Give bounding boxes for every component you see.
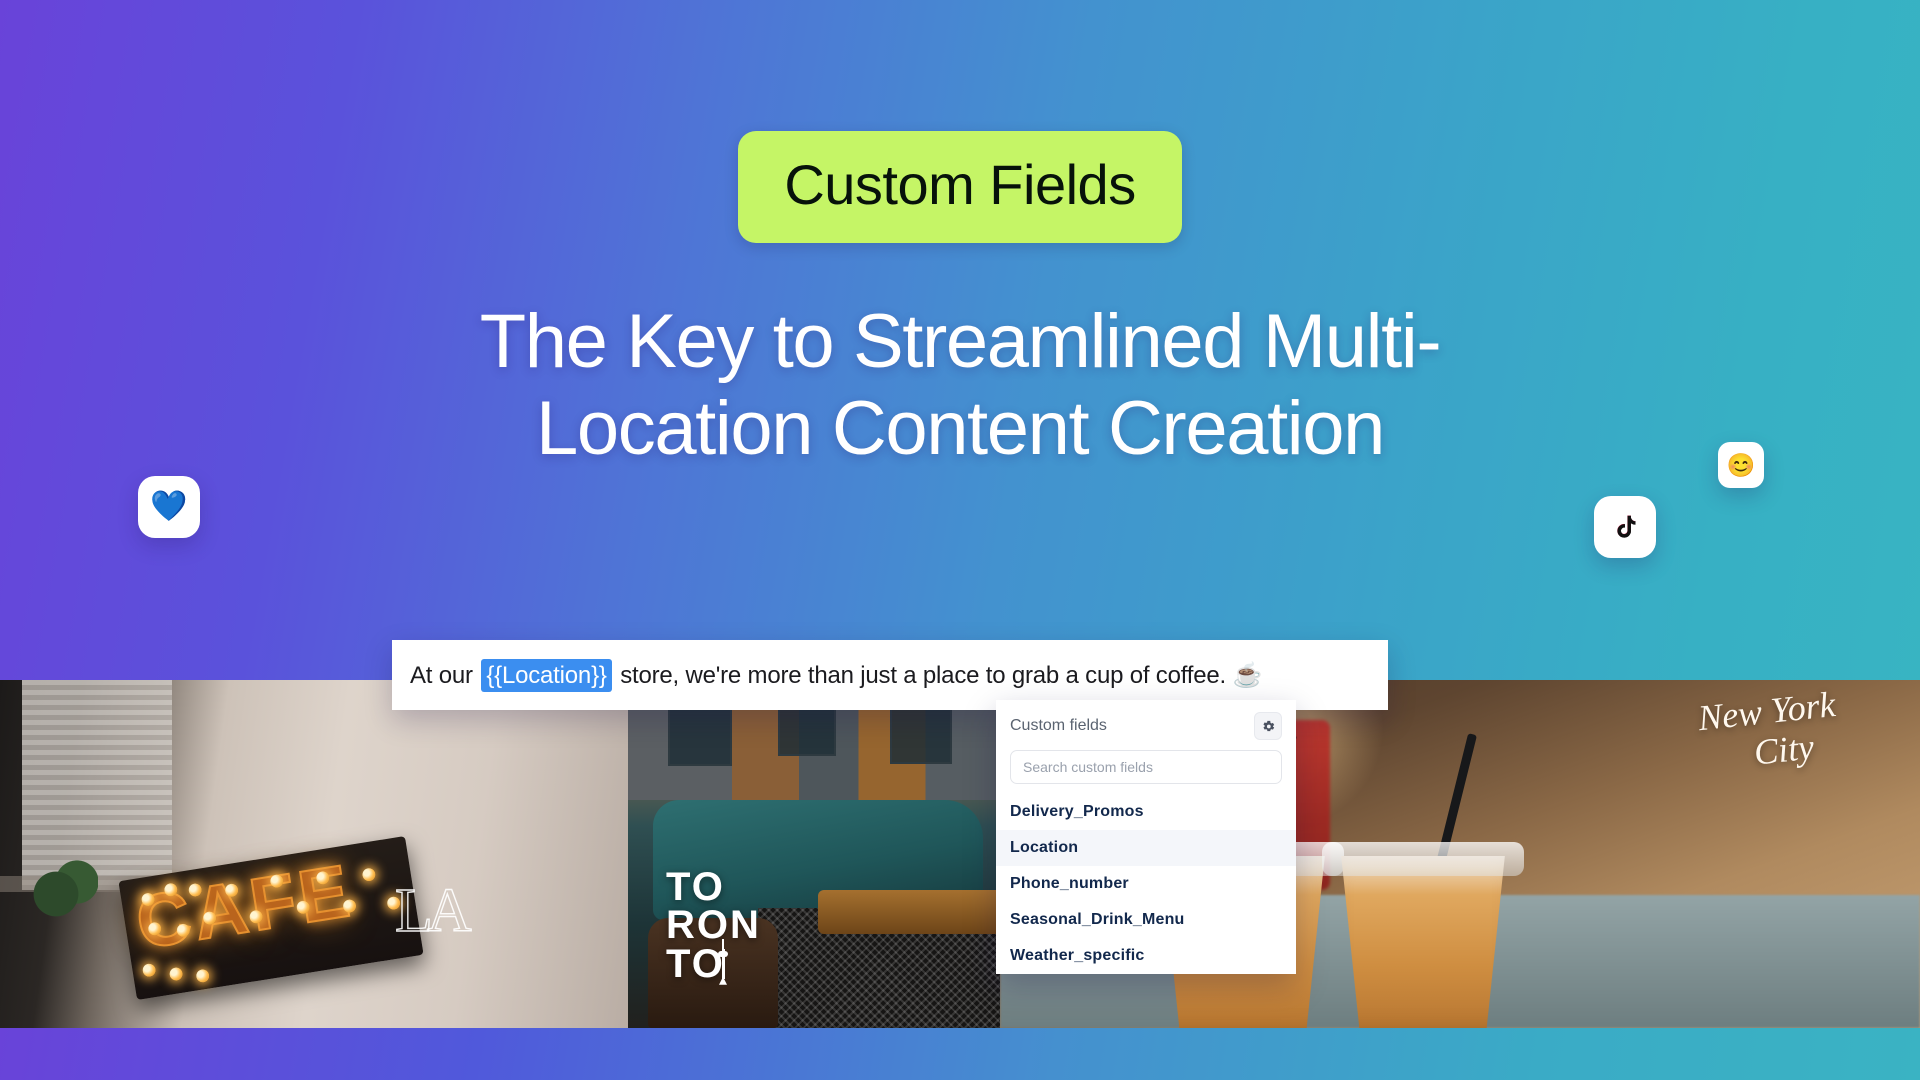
custom-field-item-delivery-promos[interactable]: Delivery_Promos [996,794,1296,830]
bottom-gradient-band [0,1028,1920,1080]
slide-canvas: Custom Fields The Key to Streamlined Mul… [0,0,1920,1080]
location-merge-token[interactable]: {{Location}} [481,659,611,692]
custom-fields-title: Custom fields [1010,717,1107,735]
headline-line-1: The Key to Streamlined Multi- [360,298,1560,385]
toronto-patio-photo: TO RON TO [628,680,1000,1028]
hero-section: Custom Fields The Key to Streamlined Mul… [0,0,1920,680]
photo-strip: CAFE LA [0,680,1920,1028]
tiktok-icon [1610,512,1640,542]
custom-fields-header: Custom fields [996,712,1296,750]
page-title: The Key to Streamlined Multi- Location C… [360,298,1560,473]
caption-text[interactable]: At our {{Location}} store, we're more th… [410,661,1262,690]
blue-heart-badge[interactable]: 💙 [138,476,200,538]
headline-line-2: Location Content Creation [360,385,1560,472]
custom-field-item-seasonal-drink-menu[interactable]: Seasonal_Drink_Menu [996,902,1296,938]
custom-field-item-phone-number[interactable]: Phone_number [996,866,1296,902]
iced-coffee-cup [1330,856,1516,1028]
toronto-line-3: TO [666,945,725,983]
cup-lid [1322,842,1524,876]
gear-icon[interactable] [1254,712,1282,740]
smiley-face-icon: 😊 [1727,454,1756,477]
caption-text-before: At our [410,662,473,689]
caption-text-after: store, we're more than just a place to g… [620,662,1262,689]
la-overlay-text: LA [395,880,466,942]
search-custom-fields-input[interactable]: Search custom fields [1010,750,1282,784]
eyebrow-badge: Custom Fields [738,131,1181,243]
custom-field-item-location[interactable]: Location [996,830,1296,866]
cn-tower-icon [718,939,728,985]
cafe-storefront-photo: CAFE LA [0,680,628,1028]
blue-heart-icon: 💙 [150,492,187,522]
tiktok-badge[interactable] [1594,496,1656,558]
planter-box [28,858,98,918]
toronto-line-2: RON [666,906,761,944]
new-york-city-overlay-text: New York City [1696,685,1841,778]
custom-field-item-weather-specific[interactable]: Weather_specific [996,938,1296,974]
custom-fields-dropdown[interactable]: Custom fields Search custom fields Deliv… [996,700,1296,974]
patio-table [818,890,1000,934]
smiley-badge[interactable]: 😊 [1718,442,1764,488]
search-placeholder: Search custom fields [1023,759,1153,775]
toronto-line-1: TO [666,868,761,906]
toronto-overlay-text: TO RON TO [666,868,761,983]
